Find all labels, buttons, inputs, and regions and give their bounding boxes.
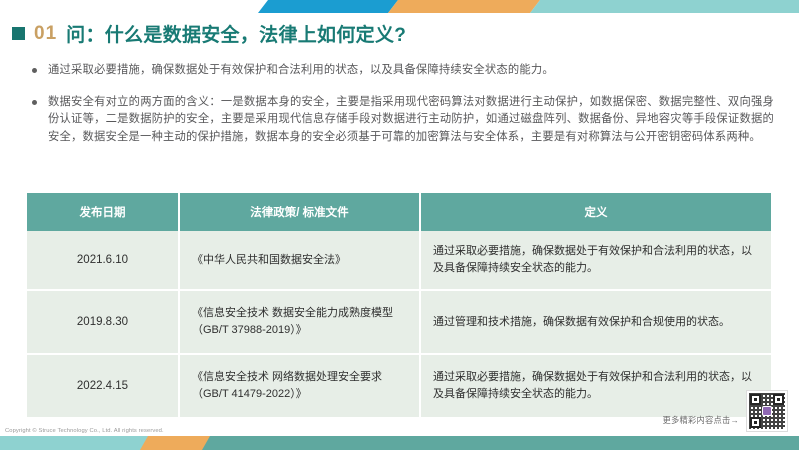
bullet-dot-icon bbox=[32, 100, 37, 105]
bullet-text: 通过采取必要措施，确保数据处于有效保护和合法利用的状态，以及具备保障持续安全状态… bbox=[48, 62, 554, 80]
footer-segment-orange bbox=[140, 436, 210, 450]
table-row: 2021.6.10 《中华人民共和国数据安全法》 通过采取必要措施，确保数据处于… bbox=[27, 231, 771, 291]
qr-code-pattern bbox=[749, 393, 785, 429]
table-header-publish-date: 发布日期 bbox=[27, 193, 180, 231]
table-header-document: 法律政策/ 标准文件 bbox=[180, 193, 421, 231]
bullet-dot-icon bbox=[32, 68, 37, 73]
more-content-label: 更多精彩内容点击→ bbox=[663, 414, 739, 426]
cell-publish-date: 2022.4.15 bbox=[27, 355, 180, 417]
list-item: 通过采取必要措施，确保数据处于有效保护和合法利用的状态，以及具备保障持续安全状态… bbox=[32, 62, 774, 80]
table-row: 2022.4.15 《信息安全技术 网络数据处理安全要求（GB/T 41479-… bbox=[27, 355, 771, 419]
cell-document: 《信息安全技术 数据安全能力成熟度模型（GB/T 37988-2019）》 bbox=[180, 291, 421, 353]
cell-definition: 通过采取必要措施，确保数据处于有效保护和合法利用的状态，以及具备保障持续安全状态… bbox=[421, 355, 771, 417]
title-heading-text: 问：什么是数据安全，法律上如何定义? bbox=[66, 20, 406, 47]
footer-decorative-bar bbox=[0, 436, 799, 450]
table-body: 2021.6.10 《中华人民共和国数据安全法》 通过采取必要措施，确保数据处于… bbox=[27, 231, 771, 419]
table-header-definition: 定义 bbox=[421, 193, 771, 231]
bullet-list: 通过采取必要措施，确保数据处于有效保护和合法利用的状态，以及具备保障持续安全状态… bbox=[32, 62, 774, 160]
cell-document: 《信息安全技术 网络数据处理安全要求（GB/T 41479-2022）》 bbox=[180, 355, 421, 417]
qr-code[interactable] bbox=[746, 390, 788, 432]
top-decorative-bar bbox=[0, 0, 799, 13]
cell-publish-date: 2019.8.30 bbox=[27, 291, 180, 353]
footer-segment-light-teal bbox=[0, 436, 150, 450]
qr-finder-icon bbox=[750, 417, 761, 428]
cell-definition: 通过采取必要措施，确保数据处于有效保护和合法利用的状态，以及具备保障持续安全状态… bbox=[421, 231, 771, 289]
table-header-row: 发布日期 法律政策/ 标准文件 定义 bbox=[27, 193, 771, 231]
cell-publish-date: 2021.6.10 bbox=[27, 231, 180, 289]
qr-center-logo-icon bbox=[762, 406, 772, 416]
copyright-text: Copyright © Struce Technology Co., Ltd. … bbox=[5, 428, 164, 434]
topbar-segment-light-teal bbox=[530, 0, 799, 13]
cell-definition: 通过管理和技术措施，确保数据有效保护和合规使用的状态。 bbox=[421, 291, 771, 353]
legal-definitions-table: 发布日期 法律政策/ 标准文件 定义 2021.6.10 《中华人民共和国数据安… bbox=[27, 193, 771, 419]
topbar-segment-orange bbox=[388, 0, 540, 13]
title-number: 01 bbox=[34, 23, 57, 45]
table-row: 2019.8.30 《信息安全技术 数据安全能力成熟度模型（GB/T 37988… bbox=[27, 291, 771, 355]
qr-finder-icon bbox=[750, 394, 761, 405]
bullet-text: 数据安全有对立的两方面的含义：一是数据本身的安全，主要是指采用现代密码算法对数据… bbox=[48, 94, 774, 147]
title-bullet-square-icon bbox=[12, 27, 25, 40]
topbar-segment-blue bbox=[258, 0, 398, 13]
page-title: 01 问：什么是数据安全，法律上如何定义? bbox=[12, 20, 406, 47]
qr-finder-icon bbox=[773, 394, 784, 405]
list-item: 数据安全有对立的两方面的含义：一是数据本身的安全，主要是指采用现代密码算法对数据… bbox=[32, 94, 774, 147]
cell-document: 《中华人民共和国数据安全法》 bbox=[180, 231, 421, 289]
